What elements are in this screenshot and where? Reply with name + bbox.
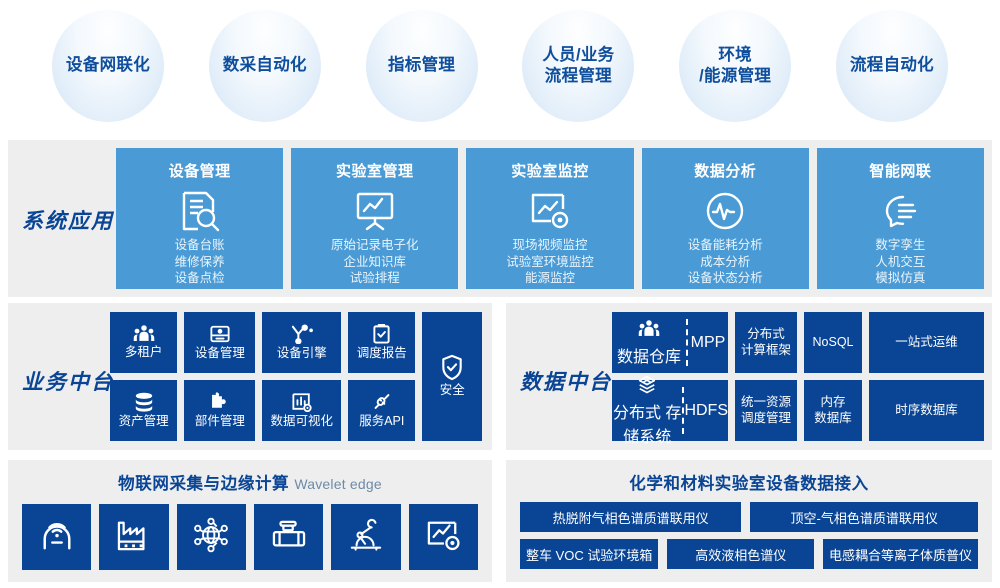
lab-equipment-row-2: 整车 VOC 试验环境箱 高效液相色谱仪 电感耦合等离子体质普仪 [520,539,978,569]
tile-component-management[interactable]: 部件管理 [184,380,255,441]
document-search-icon [180,189,220,233]
shield-check-icon [440,354,464,381]
lab-tile-label: 电感耦合等离子体质普仪 [829,545,972,564]
tile-label: 数据仓库 [617,343,681,367]
puzzle-piece-icon [209,391,230,412]
tile-label: 安全 [440,383,465,398]
plug-connect-icon [371,391,393,412]
architecture-diagram: 设备网联化 数采自动化 指标管理 人员/业务 流程管理 环境 /能源管理 流程自… [0,0,1000,588]
iot-tile-row [22,504,478,570]
tile-unified-resource-scheduling[interactable]: 统一资源 调度管理 [735,380,797,441]
multi-tenant-icon [133,324,155,343]
capability-label: 环境 /能源管理 [699,45,771,87]
business-platform-grid: 多租户 资产管理 [110,312,482,441]
lab-equipment-row-1: 热脱附气相色谱质谱联用仪 顶空-气相色谱质谱联用仪 [520,502,978,532]
device-box-icon [209,324,231,344]
bar-chart-gear-icon [291,392,313,412]
lab-equipment-title: 化学和材料实验室设备数据接入 [629,475,868,493]
iot-tile-wifi-gateway[interactable] [22,504,91,570]
ai-head-icon [879,189,921,233]
data-platform-grid: 数据仓库 MPP 分布式 [612,312,984,441]
capability-label: 设备网联化 [66,55,150,76]
app-card-desc: 设备能耗分析 成本分析 设备状态分析 [688,237,763,287]
tile-device-engine[interactable]: 设备引擎 [262,312,341,373]
iot-tile-sensor-device[interactable] [254,504,323,570]
tile-label: 时序数据库 [895,403,958,418]
lab-tile-vehicle-voc-chamber[interactable]: 整车 VOC 试验环境箱 [520,539,658,569]
tile-label: 分布式 存储系统 [612,399,682,447]
chart-board-icon [354,189,396,233]
tile-dispatch-report[interactable]: 调度报告 [348,312,415,373]
capability-label: 人员/业务 流程管理 [542,45,614,87]
tile-label: 数据可视化 [271,414,334,429]
tile-in-memory-database[interactable]: 内存 数据库 [804,380,862,441]
clipboard-check-icon [372,323,391,344]
app-card-lab-management[interactable]: 实验室管理 原始记录电子化 企业知识库 试验排程 [291,148,458,289]
capability-bubble-4[interactable]: 人员/业务 流程管理 [522,10,634,122]
capability-row: 设备网联化 数采自动化 指标管理 人员/业务 流程管理 环境 /能源管理 流程自… [0,0,1000,132]
lab-equipment-rows: 热脱附气相色谱质谱联用仪 顶空-气相色谱质谱联用仪 整车 VOC 试验环境箱 高… [520,502,978,576]
app-card-title: 实验室监控 [511,160,589,181]
lab-equipment-section: 化学和材料实验室设备数据接入 热脱附气相色谱质谱联用仪 顶空-气相色谱质谱联用仪… [506,460,992,582]
business-platform-label: 业务中台 [22,366,114,396]
app-card-equipment-management[interactable]: 设备管理 设备台账 维修保养 设备点检 [116,148,283,289]
node-branch-icon [290,324,314,344]
capability-bubble-2[interactable]: 数采自动化 [209,10,321,122]
tile-label: 统一资源 调度管理 [741,395,791,426]
iot-tile-network-globe[interactable] [177,504,246,570]
app-card-desc: 设备台账 维修保养 设备点检 [175,237,225,287]
monitor-chart-icon [529,189,571,233]
capability-label: 指标管理 [388,55,455,76]
tile-label: MPP [691,334,726,352]
lab-tile-label: 热脱附气相色谱质谱联用仪 [553,508,709,527]
app-card-desc: 现场视频监控 试验室环境监控 能源监控 [506,237,594,287]
iot-tile-monitor-chart[interactable] [409,504,478,570]
system-application-label: 系统应用 [22,205,114,235]
app-card-intelligent-network[interactable]: 智能网联 数字孪生 人机交互 模拟仿真 [817,148,984,289]
tile-one-stop-ops[interactable]: 一站式运维 [869,312,984,373]
app-card-lab-monitoring[interactable]: 实验室监控 现场视频监控 试验室环境监控 能源监控 [466,148,633,289]
cube-layers-icon [637,375,657,399]
iot-edge-title: 物联网采集与边缘计算 [118,475,289,493]
capability-bubble-3[interactable]: 指标管理 [366,10,478,122]
multi-tenant-icon [638,319,660,343]
tile-label: 一站式运维 [895,335,958,350]
wifi-gateway-icon [40,518,74,557]
app-card-title: 设备管理 [169,160,231,181]
lab-tile-thermal-desorption-gcms[interactable]: 热脱附气相色谱质谱联用仪 [520,502,741,532]
tile-timeseries-database[interactable]: 时序数据库 [869,380,984,441]
lab-tile-label: 高效液相色谱仪 [695,545,786,564]
iot-edge-subtitle: Wavelet edge [294,476,382,492]
lab-tile-icp-ms[interactable]: 电感耦合等离子体质普仪 [823,539,978,569]
tile-label: 分布式 计算框架 [741,327,791,358]
tile-service-api[interactable]: 服务API [348,380,415,441]
tile-label: 调度报告 [357,346,407,361]
capability-bubble-5[interactable]: 环境 /能源管理 [679,10,791,122]
tile-asset-management[interactable]: 资产管理 [110,380,177,441]
tile-security[interactable]: 安全 [422,312,482,441]
tile-label: 设备管理 [195,346,245,361]
pulse-circle-icon [705,189,745,233]
tile-nosql[interactable]: NoSQL [804,312,862,373]
tile-multi-tenant[interactable]: 多租户 [110,312,177,373]
capability-bubble-1[interactable]: 设备网联化 [52,10,164,122]
factory-icon [116,519,152,556]
app-card-desc: 数字孪生 人机交互 模拟仿真 [875,237,925,287]
network-globe-icon [193,517,229,558]
capability-bubble-6[interactable]: 流程自动化 [836,10,948,122]
data-platform-label: 数据中台 [520,366,612,396]
app-card-title: 智能网联 [869,160,931,181]
app-card-desc: 原始记录电子化 企业知识库 试验排程 [331,237,419,287]
tile-label: NoSQL [813,335,854,350]
tile-label: HDFS [684,402,728,420]
tile-label: 内存 数据库 [814,395,852,426]
tile-label: 设备引擎 [277,346,327,361]
tile-device-management[interactable]: 设备管理 [184,312,255,373]
tile-label: 资产管理 [119,414,169,429]
lab-tile-label: 顶空-气相色谱质谱联用仪 [791,508,938,527]
capability-label: 数采自动化 [223,55,307,76]
iot-edge-section: 物联网采集与边缘计算 Wavelet edge [8,460,492,582]
lab-tile-headspace-gcms[interactable]: 顶空-气相色谱质谱联用仪 [750,502,978,532]
app-card-title: 数据分析 [694,160,756,181]
app-card-title: 实验室管理 [336,160,414,181]
capability-label: 流程自动化 [850,55,934,76]
iot-tile-robot-arm[interactable] [331,504,400,570]
tile-label: 部件管理 [195,414,245,429]
database-coins-icon [133,392,155,412]
iot-edge-heading: 物联网采集与边缘计算 Wavelet edge [8,460,492,494]
app-card-data-analysis[interactable]: 数据分析 设备能耗分析 成本分析 设备状态分析 [642,148,809,289]
lab-equipment-heading: 化学和材料实验室设备数据接入 [506,460,992,494]
lab-tile-hplc[interactable]: 高效液相色谱仪 [667,539,814,569]
tile-data-warehouse-mpp[interactable]: 数据仓库 MPP [612,312,728,373]
tile-data-visualization[interactable]: 数据可视化 [262,380,341,441]
robot-arm-icon [348,518,384,556]
lab-tile-label: 整车 VOC 试验环境箱 [526,545,652,564]
tile-distributed-compute-framework[interactable]: 分布式 计算框架 [735,312,797,373]
tile-label: 服务API [359,414,404,429]
tile-distributed-storage-hdfs[interactable]: 分布式 存储系统 HDFS [612,380,728,441]
sensor-device-icon [271,519,307,556]
iot-tile-factory[interactable] [99,504,168,570]
monitor-chart-icon [425,519,461,556]
tile-label: 多租户 [125,345,163,360]
system-application-cards: 设备管理 设备台账 维修保养 设备点检 实验室管理 [116,148,984,289]
